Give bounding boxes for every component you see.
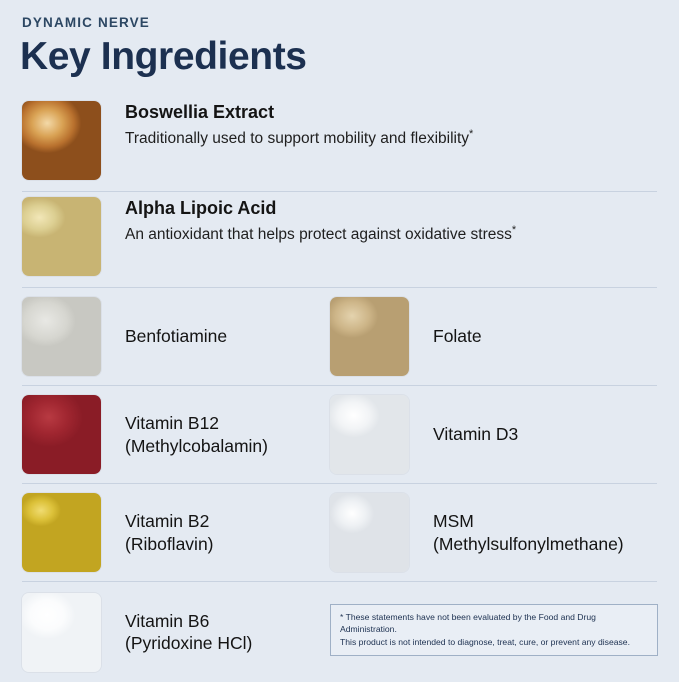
brand-eyebrow: DYNAMIC NERVE (22, 16, 150, 30)
ingredient-description: Traditionally used to support mobility a… (125, 127, 473, 149)
ingredient-list: Boswellia Extract Traditionally used to … (22, 96, 657, 682)
fda-disclaimer: * These statements have not been evaluat… (330, 604, 658, 656)
key-ingredients-panel: DYNAMIC NERVE Key Ingredients Boswellia … (0, 0, 679, 679)
ingredient-text: Benfotiamine (125, 325, 227, 347)
ingredient-name: Vitamin B6 (Pyridoxine HCl) (125, 610, 252, 655)
alpha-lipoic-acid-powder-swatch (22, 197, 101, 276)
ingredient-text: Boswellia Extract Traditionally used to … (125, 101, 473, 149)
boswellia-resin-swatch (22, 101, 101, 180)
ingredient-text: MSM (Methylsulfonylmethane) (433, 510, 624, 555)
vitamin-b12-powder-swatch (22, 395, 101, 474)
texture-overlay (22, 395, 101, 474)
ingredient-name: MSM (Methylsulfonylmethane) (433, 510, 624, 555)
disclaimer-line-1: * These statements have not been evaluat… (340, 611, 648, 636)
vitamin-b6-powder-swatch (22, 593, 101, 672)
texture-overlay (22, 101, 101, 180)
ingredient-item-alpha-lipoic-acid: Alpha Lipoic Acid An antioxidant that he… (22, 192, 516, 292)
ingredient-row: Vitamin B12 (Methylcobalamin) Vitamin D3 (22, 386, 657, 484)
ingredient-item-vitamin-b12: Vitamin B12 (Methylcobalamin) (22, 386, 268, 483)
ingredient-item-folate: Folate (330, 288, 482, 385)
asterisk-marker: * (469, 128, 473, 140)
folate-powder-swatch (330, 297, 409, 376)
texture-overlay (330, 297, 409, 376)
description-text: Traditionally used to support mobility a… (125, 130, 469, 147)
msm-powder-swatch (330, 493, 409, 572)
texture-overlay (22, 593, 101, 672)
ingredient-name: Boswellia Extract (125, 101, 473, 124)
ingredient-name: Benfotiamine (125, 325, 227, 347)
asterisk-marker: * (512, 224, 516, 236)
ingredient-item-vitamin-b2: Vitamin B2 (Riboflavin) (22, 484, 214, 581)
ingredient-text: Vitamin B12 (Methylcobalamin) (125, 412, 268, 457)
ingredient-text: Alpha Lipoic Acid An antioxidant that he… (125, 197, 516, 245)
ingredient-text: Vitamin B2 (Riboflavin) (125, 510, 214, 555)
ingredient-row: Vitamin B2 (Riboflavin) MSM (Methylsulfo… (22, 484, 657, 582)
ingredient-item-boswellia: Boswellia Extract Traditionally used to … (22, 96, 473, 196)
ingredient-text: Folate (433, 325, 482, 347)
ingredient-name: Alpha Lipoic Acid (125, 197, 516, 220)
ingredient-name: Folate (433, 325, 482, 347)
vitamin-d3-powder-swatch (330, 395, 409, 474)
description-text: An antioxidant that helps protect agains… (125, 226, 512, 243)
page-title: Key Ingredients (20, 36, 307, 79)
ingredient-item-msm: MSM (Methylsulfonylmethane) (330, 484, 624, 581)
ingredient-item-vitamin-d3: Vitamin D3 (330, 386, 518, 483)
ingredient-name: Vitamin B12 (Methylcobalamin) (125, 412, 268, 457)
texture-overlay (330, 395, 409, 474)
texture-overlay (22, 297, 101, 376)
texture-overlay (330, 493, 409, 572)
texture-overlay (22, 197, 101, 276)
ingredient-text: Vitamin D3 (433, 423, 518, 445)
ingredient-row: Benfotiamine Folate (22, 288, 657, 386)
ingredient-item-vitamin-b6: Vitamin B6 (Pyridoxine HCl) (22, 582, 252, 682)
ingredient-row: Boswellia Extract Traditionally used to … (22, 96, 657, 192)
ingredient-name: Vitamin B2 (Riboflavin) (125, 510, 214, 555)
ingredient-text: Vitamin B6 (Pyridoxine HCl) (125, 610, 252, 655)
ingredient-name: Vitamin D3 (433, 423, 518, 445)
ingredient-item-benfotiamine: Benfotiamine (22, 288, 227, 385)
texture-overlay (22, 493, 101, 572)
disclaimer-line-2: This product is not intended to diagnose… (340, 636, 648, 648)
ingredient-description: An antioxidant that helps protect agains… (125, 223, 516, 245)
benfotiamine-powder-swatch (22, 297, 101, 376)
vitamin-b2-riboflavin-swatch (22, 493, 101, 572)
ingredient-row: Alpha Lipoic Acid An antioxidant that he… (22, 192, 657, 288)
